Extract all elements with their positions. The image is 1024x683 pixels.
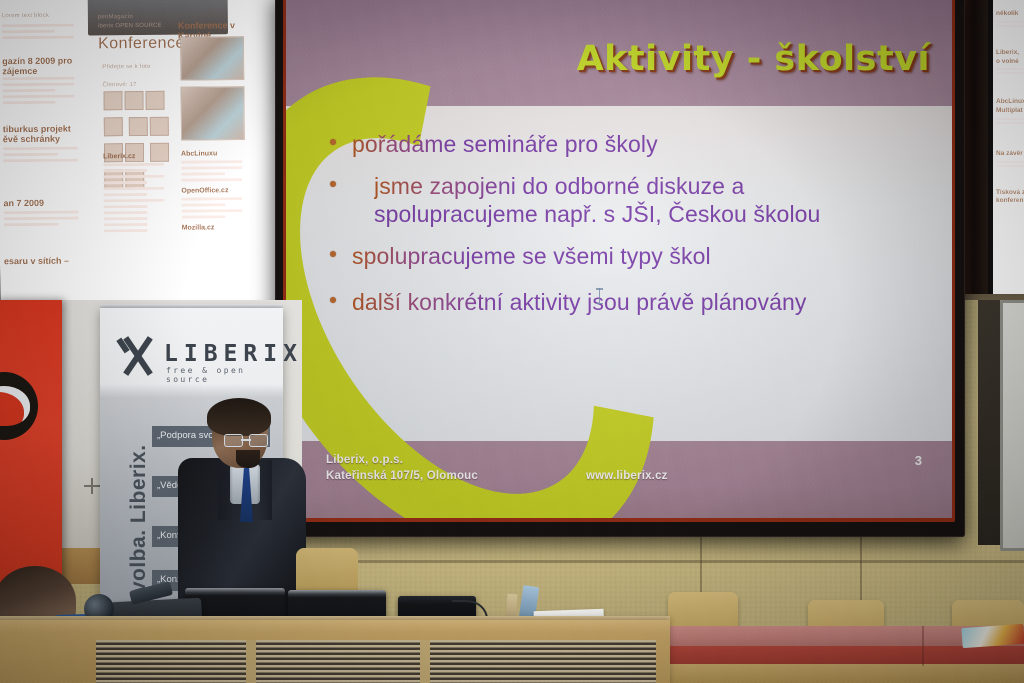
- slide-bullet-item: pořádáme semináře pro školy: [330, 130, 930, 158]
- aux-left-col-head-2: AbcLinuxu: [181, 150, 255, 158]
- wall-marker-cross-icon: [84, 478, 100, 494]
- presenter-beard: [236, 450, 260, 468]
- aux-left-section-c: an 7 2009: [3, 197, 95, 208]
- aux-screen-left: Lorem text block gazín 8 2009 pro zájemc…: [0, 0, 292, 310]
- pens-and-papers: [961, 624, 1024, 648]
- liberix-logo-icon: [118, 336, 158, 376]
- aux-right-line-8: konference: [993, 197, 1024, 206]
- table-seam: [922, 626, 924, 666]
- aux-right-line-7: Tisková zp: [993, 189, 1024, 198]
- slide-footer-content: Liberix, o.p.s. Kateřinská 107/5, Olomou…: [286, 441, 952, 518]
- slide-bullet-text: další konkrétní aktivity jsou právě plán…: [352, 288, 807, 316]
- slide-bullet-text-cont: spolupracujeme např. s JŠI, Českou školo…: [374, 200, 820, 228]
- slide-footer-address: Liberix, o.p.s. Kateřinská 107/5, Olomou…: [326, 453, 478, 484]
- aux-left-link-2[interactable]: iberix OPEN SOURCE: [98, 21, 168, 30]
- presentation-slide: Aktivity - školství pořádáme semináře pr…: [286, 0, 952, 518]
- aux-right-line-5: Multiplat: [993, 107, 1024, 116]
- aux-left-section-d: esaru v sítích –: [4, 255, 96, 266]
- slide-bullet-list: pořádáme semináře pro školy jsme zapojen…: [330, 130, 930, 330]
- whiteboard: [1000, 300, 1024, 551]
- aux-left-col-head-3: OpenOffice.cz: [181, 187, 255, 195]
- slide-bullet-text: spolupracujeme se všemi typy škol: [352, 242, 711, 270]
- bullet-dot-icon: [330, 297, 336, 303]
- wall-pillar: [962, 0, 988, 294]
- bullet-dot-icon: [330, 251, 336, 257]
- slide-footer-street: Kateřinská 107/5, Olomouc: [326, 469, 478, 485]
- liberix-tagline-text: free & open source: [166, 366, 283, 384]
- podium-grille-vent: [96, 640, 656, 683]
- slide-bullet-text: pořádáme semináře pro školy: [352, 130, 658, 158]
- aux-left-item-link[interactable]: Přidejte se k foto: [102, 63, 172, 72]
- slide-content-area: pořádáme semináře pro školy jsme zapojen…: [286, 106, 952, 441]
- bullet-dot-icon: [330, 181, 336, 187]
- wall-dark-trim: [978, 300, 1000, 545]
- slide-bullet-item: další konkrétní aktivity jsou právě plán…: [330, 288, 930, 316]
- slide-bullet-text: jsme zapojeni do odborné diskuze a: [374, 172, 820, 200]
- slide-bullet-item: spolupracujeme se všemi typy škol: [330, 242, 930, 270]
- aux-left-col-head-1: Liberix.cz: [103, 153, 177, 161]
- text-caret-cursor-icon: [599, 288, 600, 304]
- aux-right-line-2: Liberix,: [993, 49, 1024, 58]
- photo-scene: Lorem text block gazín 8 2009 pro zájemc…: [0, 0, 1024, 683]
- bullet-dot-icon: [330, 139, 336, 145]
- slide-title: Aktivity - školství: [577, 39, 930, 79]
- slide-bullet-item: jsme zapojeni do odborné diskuze a spolu…: [330, 172, 930, 228]
- aux-screen-right: několik Liberix, o volné AbcLinux Multip…: [988, 0, 1024, 294]
- aux-left-photo-2: [180, 86, 244, 141]
- presenter-glasses-icon: [224, 434, 268, 445]
- aux-right-line-3: o volné: [993, 58, 1024, 67]
- slide-footer-website: www.liberix.cz: [586, 470, 668, 482]
- aux-left-paragraph-1: Lorem text block: [2, 11, 90, 20]
- aux-right-line-6: Na závěr p: [993, 150, 1024, 159]
- slide-page-number: 3: [915, 453, 922, 468]
- aux-left-webpage: Lorem text block gazín 8 2009 pro zájemc…: [0, 0, 285, 303]
- podium-grille-divider: [420, 640, 430, 683]
- aux-left-photo-1: [180, 36, 244, 81]
- aux-left-heading-konference: Konference: [98, 35, 185, 54]
- liberix-brand-text: LIBERIX: [164, 341, 303, 367]
- slide-footer-org: Liberix, o.p.s.: [326, 453, 478, 469]
- podium-grille-divider: [246, 640, 256, 683]
- conference-table-base: [660, 664, 1024, 683]
- aux-right-webpage: několik Liberix, o volné AbcLinux Multip…: [993, 0, 1024, 294]
- presenter-lapels: [218, 460, 272, 520]
- aux-left-col-head-4: Mozilla.cz: [182, 224, 256, 232]
- aux-right-line-4: AbcLinux: [993, 98, 1024, 107]
- presenter-hair: [207, 398, 271, 436]
- aux-left-section-b: ěvě schránky: [3, 133, 95, 144]
- aux-right-line-1: několik: [993, 10, 1024, 19]
- conference-table-front: [660, 646, 1024, 666]
